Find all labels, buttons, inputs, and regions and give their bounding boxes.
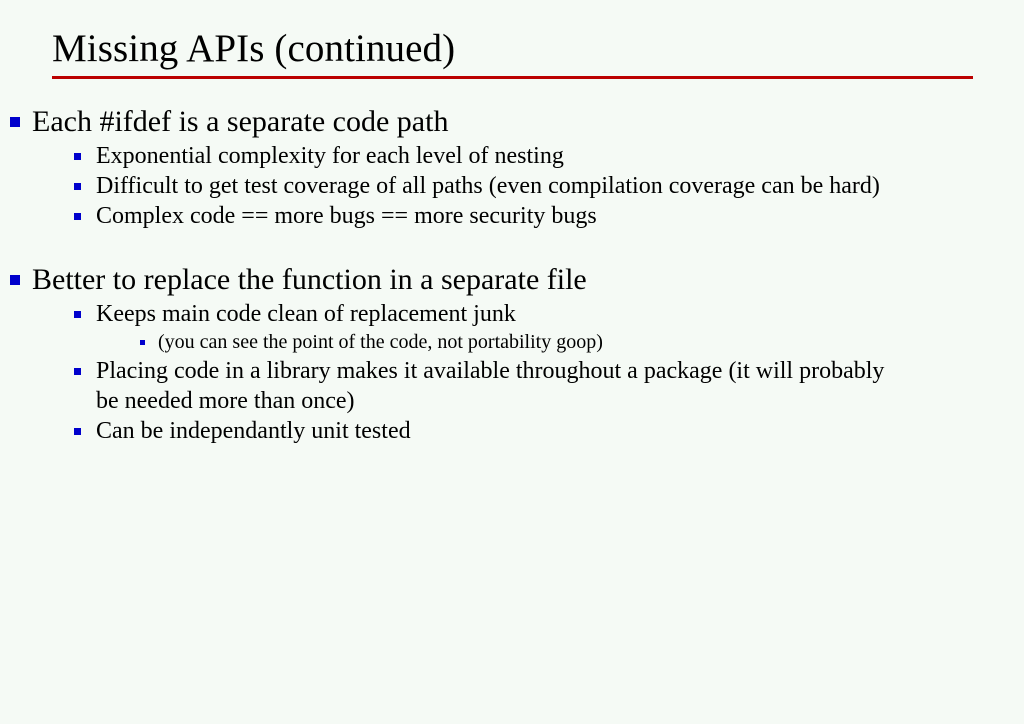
list-item-level2-label: Exponential complexity for each level of…: [96, 141, 896, 171]
list-item-level2: Exponential complexity for each level of…: [66, 141, 1024, 171]
square-bullet-icon: [74, 153, 81, 160]
sublist-level3: (you can see the point of the code, not …: [96, 329, 1024, 356]
list-item-level2: Complex code == more bugs == more securi…: [66, 201, 1024, 231]
sublist-level2: Exponential complexity for each level of…: [32, 141, 1024, 231]
square-bullet-icon: [74, 368, 81, 375]
list-item-level3-label: (you can see the point of the code, not …: [158, 329, 1024, 356]
list-item-level2-label: Keeps main code clean of replacement jun…: [96, 299, 896, 329]
slide-body: Each #ifdef is a separate code path Expo…: [0, 103, 1024, 446]
square-bullet-icon: [74, 213, 81, 220]
list-item-level2-label: Difficult to get test coverage of all pa…: [96, 171, 896, 201]
slide: Missing APIs (continued) Each #ifdef is …: [0, 0, 1024, 724]
list-item-level2-label: Complex code == more bugs == more securi…: [96, 201, 896, 231]
list-item-level1-label: Better to replace the function in a sepa…: [32, 261, 1024, 299]
list-item-level1-label: Each #ifdef is a separate code path: [32, 103, 1024, 141]
list-item-level2: Keeps main code clean of replacement jun…: [66, 299, 1024, 356]
list-item-level2: Can be independantly unit tested: [66, 416, 1024, 446]
page-title: Missing APIs (continued): [52, 26, 974, 72]
square-bullet-icon: [140, 340, 145, 345]
list-item-level2: Placing code in a library makes it avail…: [66, 356, 1024, 416]
group-spacer: [0, 231, 1024, 261]
square-bullet-icon: [74, 428, 81, 435]
list-item-level2-label: Can be independantly unit tested: [96, 416, 896, 446]
outline-list: Each #ifdef is a separate code path Expo…: [0, 103, 1024, 446]
list-item-level3: (you can see the point of the code, not …: [134, 329, 1024, 356]
list-item-level1: Each #ifdef is a separate code path Expo…: [0, 103, 1024, 231]
list-item-level2: Difficult to get test coverage of all pa…: [66, 171, 1024, 201]
list-item-level1: Better to replace the function in a sepa…: [0, 261, 1024, 446]
title-underline-rule: [52, 76, 973, 79]
square-bullet-icon: [74, 183, 81, 190]
square-bullet-icon: [10, 275, 20, 285]
sublist-level2: Keeps main code clean of replacement jun…: [32, 299, 1024, 446]
square-bullet-icon: [74, 311, 81, 318]
title-block: Missing APIs (continued): [52, 26, 974, 79]
list-item-level2-label: Placing code in a library makes it avail…: [96, 356, 896, 416]
square-bullet-icon: [10, 117, 20, 127]
